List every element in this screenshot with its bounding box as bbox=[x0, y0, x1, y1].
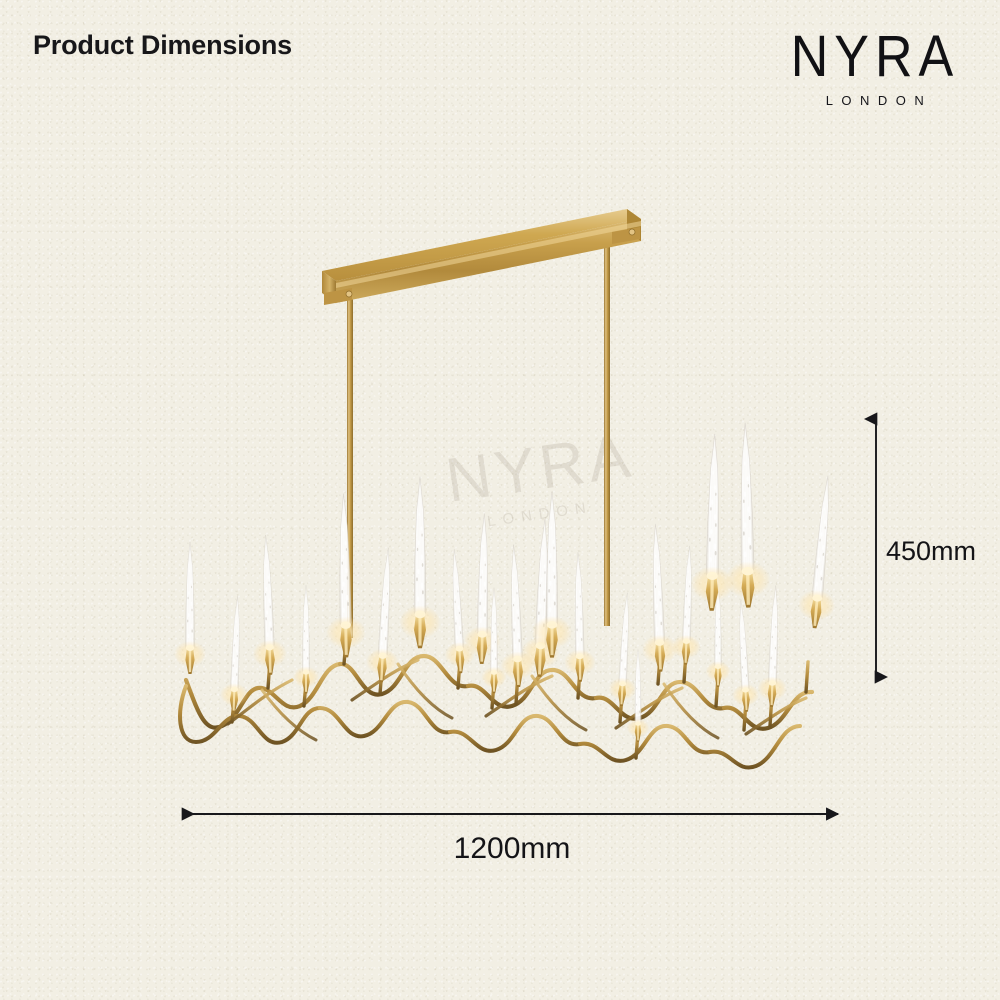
height-dimension-label: 450mm bbox=[886, 536, 976, 567]
width-dimension-label: 1200mm bbox=[0, 832, 1000, 866]
diagram-canvas: Product Dimensions NYRA LONDON NYRA LOND… bbox=[0, 0, 1000, 1000]
